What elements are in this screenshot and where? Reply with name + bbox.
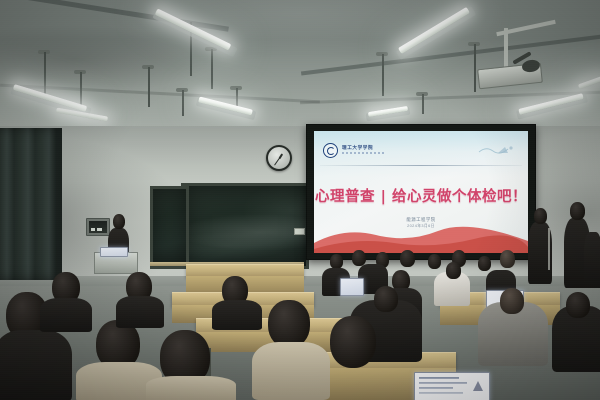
slide-divider bbox=[320, 165, 522, 166]
logo-subline bbox=[342, 152, 384, 154]
seated-body-mid-6 bbox=[212, 300, 262, 330]
blackboard-eraser bbox=[294, 228, 305, 235]
foreground-body-left-3 bbox=[146, 376, 236, 400]
seated-body-left-4 bbox=[40, 298, 92, 332]
wall-control-panel[interactable] bbox=[86, 218, 110, 236]
open-laptop-left[interactable] bbox=[340, 278, 364, 296]
foreground-body-left-1 bbox=[0, 330, 72, 400]
student-head-b8 bbox=[500, 250, 515, 268]
light-rod-6 bbox=[211, 49, 213, 89]
blackboard-chalk-marks bbox=[184, 186, 306, 266]
wall-panel-button-2[interactable] bbox=[97, 228, 102, 231]
student-head-m3 bbox=[446, 262, 461, 279]
light-rod-4 bbox=[182, 90, 184, 116]
light-rod-2 bbox=[80, 72, 82, 108]
university-logo-icon bbox=[323, 143, 338, 158]
logo-wordmark: 理工大学学院 bbox=[342, 146, 384, 153]
student-head-f1 bbox=[374, 286, 398, 312]
light-rod-3 bbox=[148, 67, 150, 107]
standing-person-2-head bbox=[570, 202, 585, 220]
student-head-f2 bbox=[500, 288, 524, 314]
podium-laptop bbox=[100, 247, 128, 257]
projection-screen: 理工大学学院 心理普查 | 给心灵做个体检吧！ 能源工程学院 2024年3月6日 bbox=[306, 124, 536, 260]
light-rod-9 bbox=[422, 94, 424, 114]
wall-panel-button-1[interactable] bbox=[91, 228, 95, 231]
blackboard bbox=[181, 183, 309, 269]
logo-org-name: 理工大学学院 bbox=[342, 146, 384, 151]
window-curtain bbox=[0, 128, 62, 280]
classroom-photo: 理工大学学院 心理普查 | 给心灵做个体检吧！ 能源工程学院 2024年3月6日 bbox=[0, 0, 600, 400]
seated-head-mid-7 bbox=[268, 300, 310, 348]
standing-person-1-stripe bbox=[548, 228, 550, 270]
light-rod-8 bbox=[382, 54, 384, 96]
standing-person-1-head bbox=[534, 208, 547, 224]
laptop-foreground-screen bbox=[415, 373, 489, 400]
slide-title: 心理普查 | 给心灵做个体检吧！ bbox=[314, 185, 528, 206]
blackboard-left-section bbox=[150, 186, 189, 269]
seated-head-mid-8 bbox=[330, 316, 376, 368]
student-head-f3 bbox=[566, 292, 590, 318]
student-head-b5 bbox=[428, 254, 441, 269]
wall-clock bbox=[266, 145, 292, 171]
student-head-b4 bbox=[400, 250, 415, 267]
presentation-slide: 理工大学学院 心理普查 | 给心灵做个体检吧！ 能源工程学院 2024年3月6日 bbox=[314, 131, 528, 253]
open-laptop-foreground[interactable] bbox=[414, 372, 490, 400]
light-rod-1 bbox=[44, 52, 46, 94]
seated-body-left-5 bbox=[116, 296, 164, 328]
presenter-head bbox=[113, 214, 125, 229]
student-head-b7 bbox=[478, 256, 491, 271]
seated-body-mid-7 bbox=[252, 342, 330, 400]
wall-panel-display bbox=[89, 221, 107, 233]
slide-wave-decoration bbox=[314, 213, 528, 253]
student-head-b1 bbox=[330, 254, 343, 269]
ribbon-flourish-icon bbox=[478, 144, 516, 156]
clock-hand-minute bbox=[274, 158, 280, 165]
light-rod-10 bbox=[474, 44, 476, 92]
standing-person-3-body bbox=[584, 232, 600, 288]
